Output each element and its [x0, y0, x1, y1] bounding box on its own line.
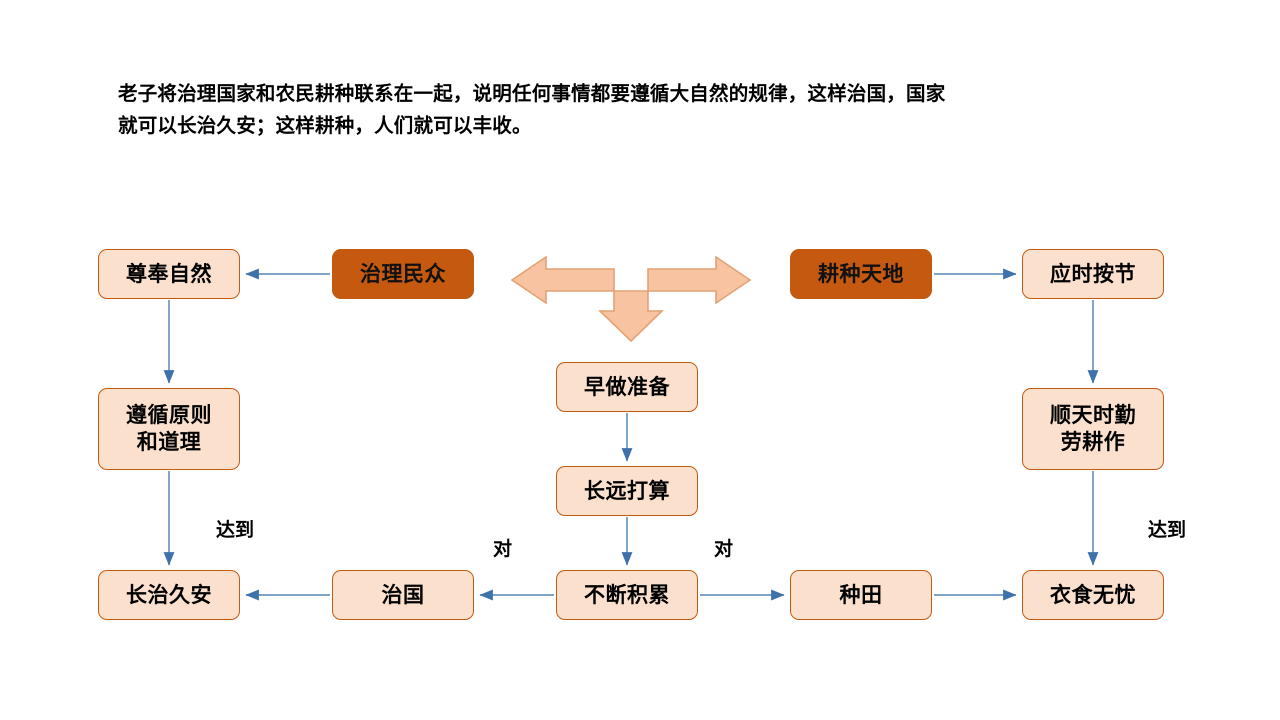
node-yishi-wuyou[interactable]: 衣食无忧 [1022, 570, 1164, 620]
node-label: 种田 [840, 582, 883, 609]
node-label: 尊奉自然 [126, 261, 212, 288]
node-label: 早做准备 [584, 374, 670, 401]
node-zunfeng-ziran[interactable]: 尊奉自然 [98, 249, 240, 299]
edge-caption-dui-right: 对 [714, 538, 733, 562]
node-label: 遵循原则 和道理 [126, 402, 212, 456]
node-buduan-jilei[interactable]: 不断积累 [556, 570, 698, 620]
node-label: 长治久安 [126, 582, 212, 609]
node-zhongtian[interactable]: 种田 [790, 570, 932, 620]
node-label: 应时按节 [1050, 261, 1136, 288]
node-zhili-minzhong[interactable]: 治理民众 [332, 249, 474, 299]
edge-caption-dadao-right: 达到 [1148, 519, 1186, 543]
node-label: 长远打算 [584, 478, 670, 505]
node-changzhi-jiuan[interactable]: 长治久安 [98, 570, 240, 620]
node-label: 衣食无忧 [1050, 582, 1136, 609]
node-gengzhong-tiandi[interactable]: 耕种天地 [790, 249, 932, 299]
tri-directional-arrow [510, 255, 752, 343]
edge-caption-dui-left: 对 [493, 538, 512, 562]
node-label: 治国 [382, 582, 425, 609]
node-label: 顺天时勤 劳耕作 [1050, 402, 1136, 456]
slide-canvas: 老子将治理国家和农民耕种联系在一起，说明任何事情都要遵循大自然的规律，这样治国，… [0, 0, 1280, 720]
node-zunxun-yuanze[interactable]: 遵循原则 和道理 [98, 388, 240, 470]
node-yingshi-anjie[interactable]: 应时按节 [1022, 249, 1164, 299]
node-label: 治理民众 [360, 261, 446, 288]
node-shuntian-genzuo[interactable]: 顺天时勤 劳耕作 [1022, 388, 1164, 470]
node-changyuan-dasuan[interactable]: 长远打算 [556, 466, 698, 516]
node-zaozuo-zhunbei[interactable]: 早做准备 [556, 362, 698, 412]
edge-caption-dadao-left: 达到 [216, 519, 254, 543]
node-label: 耕种天地 [818, 261, 904, 288]
node-label: 不断积累 [584, 582, 670, 609]
node-zhiguo[interactable]: 治国 [332, 570, 474, 620]
